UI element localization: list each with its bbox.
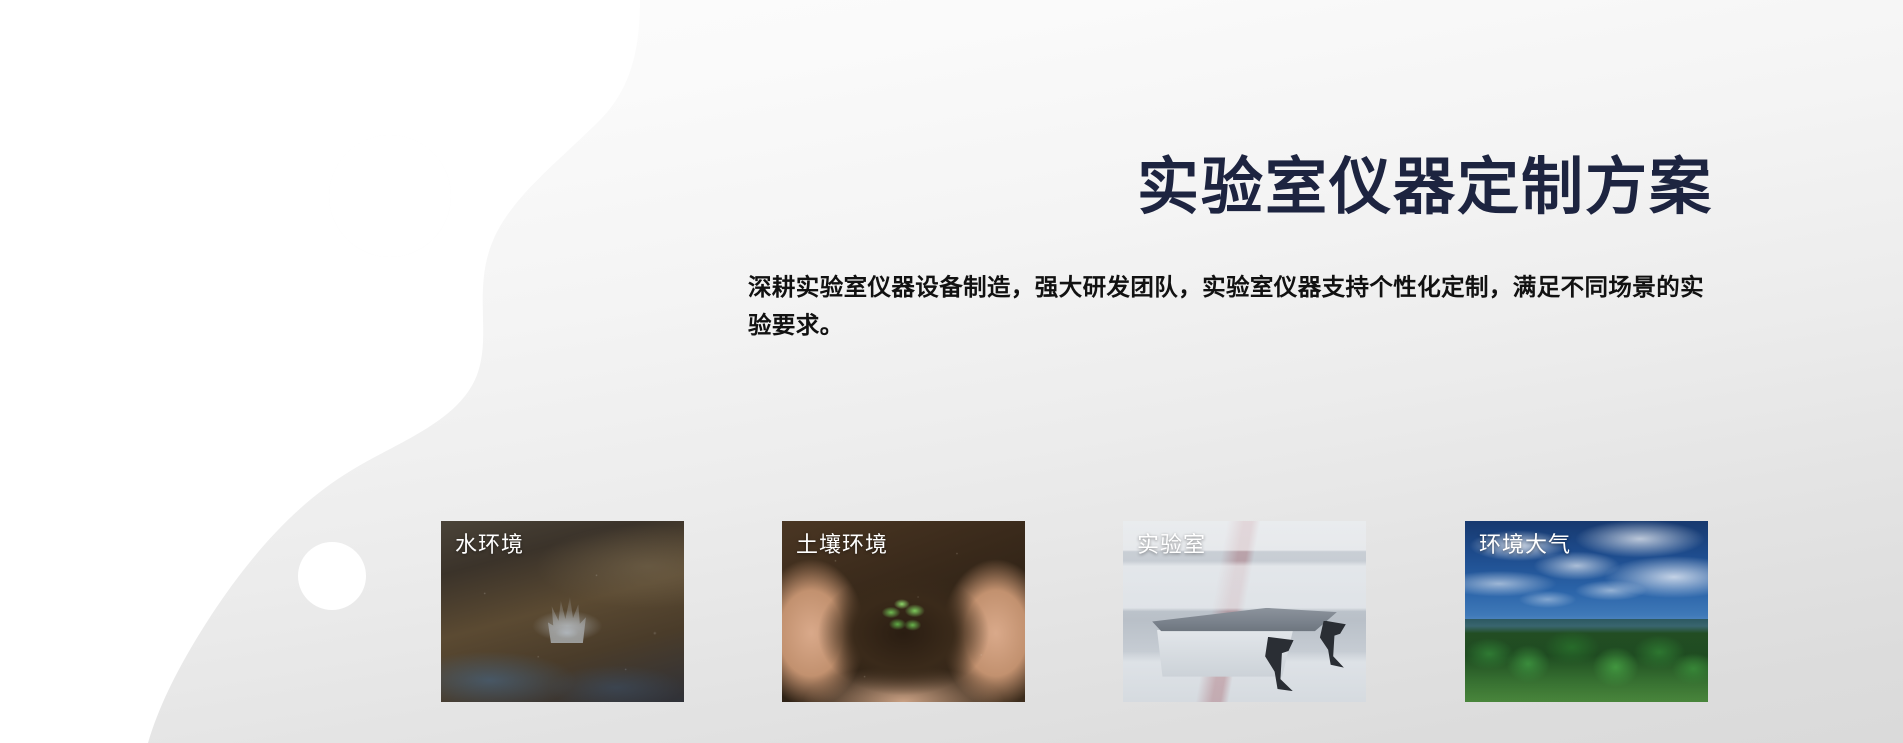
headline-block: 实验室仪器定制方案 深耕实验室仪器设备制造，强大研发团队，实验室仪器支持个性化定… (748, 150, 1713, 344)
category-card-soil[interactable]: 土壤环境 (782, 521, 1025, 702)
category-card-label: 水环境 (455, 530, 524, 560)
category-card-label: 实验室 (1137, 530, 1206, 560)
decorative-circle-small (298, 542, 366, 610)
category-card-water[interactable]: 水环境 (441, 521, 684, 702)
lab-bench-shape (1152, 608, 1337, 632)
seedling-shape (877, 598, 931, 640)
water-splash-shape (548, 597, 586, 643)
category-card-list: 水环境 土壤环境 实验室 环境大气 (441, 521, 1708, 702)
decorative-circle-large (329, 135, 451, 257)
category-card-label: 土壤环境 (796, 530, 888, 560)
laboratory-instrument-banner: 实验室仪器定制方案 深耕实验室仪器设备制造，强大研发团队，实验室仪器支持个性化定… (0, 0, 1903, 743)
page-subtitle: 深耕实验室仪器设备制造，强大研发团队，实验室仪器支持个性化定制，满足不同场景的实… (748, 268, 1713, 344)
category-card-label: 环境大气 (1479, 530, 1571, 560)
category-card-atmosphere[interactable]: 环境大气 (1465, 521, 1708, 702)
lab-stool-shape (1317, 621, 1349, 668)
page-title: 实验室仪器定制方案 (748, 150, 1713, 226)
category-card-laboratory[interactable]: 实验室 (1123, 521, 1366, 702)
